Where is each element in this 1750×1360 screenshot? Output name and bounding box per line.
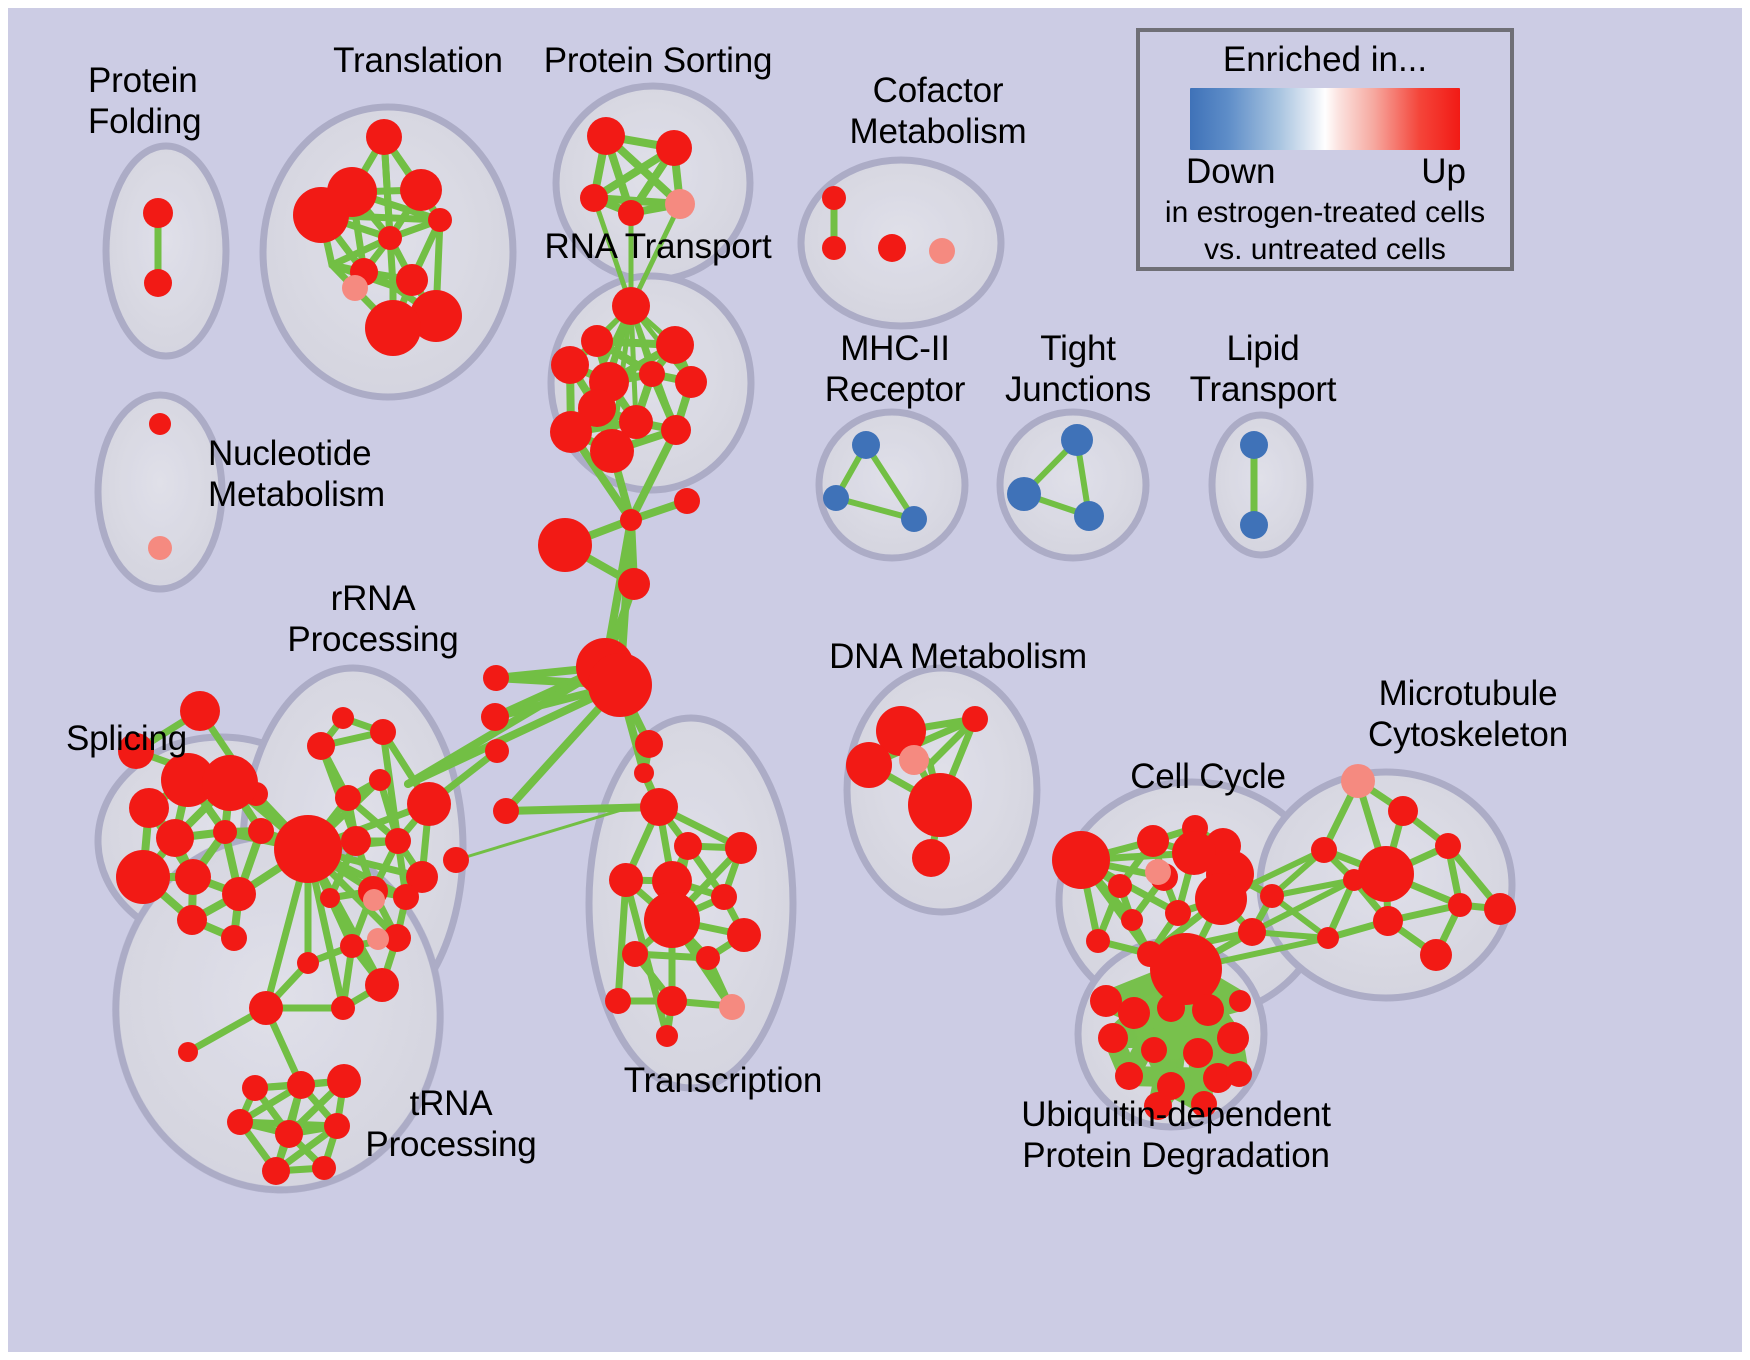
cluster-label-transcription: Transcription	[573, 1060, 873, 1101]
node	[612, 287, 650, 325]
node	[1435, 833, 1461, 859]
node	[385, 828, 411, 854]
node	[222, 877, 256, 911]
node	[370, 719, 396, 745]
node	[1090, 985, 1122, 1017]
node	[1157, 994, 1185, 1022]
node	[674, 488, 700, 514]
node	[587, 117, 625, 155]
node-down	[1240, 431, 1268, 459]
node	[590, 429, 634, 473]
node	[1229, 990, 1251, 1012]
node-down	[823, 485, 849, 511]
node	[485, 739, 509, 763]
node	[1420, 939, 1452, 971]
node	[365, 300, 421, 356]
node	[1165, 900, 1191, 926]
node-down	[1007, 477, 1041, 511]
node	[144, 269, 172, 297]
node	[175, 859, 211, 895]
legend-caption-line2: vs. untreated cells	[1164, 231, 1486, 268]
node-mid	[929, 238, 955, 264]
node-mid	[719, 994, 745, 1020]
node	[297, 952, 319, 974]
node	[129, 788, 169, 828]
cluster-label-trna-processing: tRNAProcessing	[326, 1083, 576, 1165]
node	[249, 991, 283, 1025]
cluster-label-protein-sorting: Protein Sorting	[498, 40, 818, 81]
node	[657, 986, 687, 1016]
node-mid	[665, 189, 695, 219]
node-down	[852, 431, 880, 459]
legend-endpoint-labels: Down Up	[1186, 152, 1466, 192]
node	[287, 1071, 315, 1099]
node	[365, 968, 399, 1002]
node	[293, 187, 349, 243]
node	[1108, 874, 1132, 898]
node	[605, 988, 631, 1014]
node	[242, 1075, 268, 1101]
node	[227, 1109, 253, 1135]
node	[481, 703, 509, 731]
node	[393, 884, 419, 910]
node-down	[1074, 501, 1104, 531]
node	[1388, 796, 1418, 826]
node	[538, 518, 592, 572]
node	[727, 918, 761, 952]
network-plot-area: ProteinFolding Translation Protein Sorti…	[8, 8, 1742, 1352]
node	[618, 568, 650, 600]
node	[1373, 906, 1403, 936]
node	[551, 346, 589, 384]
node	[640, 788, 678, 826]
node	[1086, 929, 1110, 953]
node	[369, 769, 391, 791]
node-mid	[1341, 764, 1375, 798]
node	[656, 326, 694, 364]
node	[822, 236, 846, 260]
node	[443, 847, 469, 873]
node	[1118, 997, 1150, 1029]
node	[248, 818, 274, 844]
node	[149, 413, 171, 435]
node	[178, 1042, 198, 1062]
node	[1448, 893, 1472, 917]
cluster-label-dna-metabolism: DNA Metabolism	[798, 636, 1118, 677]
legend-caption-line1: in estrogen-treated cells	[1164, 194, 1486, 231]
node	[656, 130, 692, 166]
legend-high-label: Up	[1421, 152, 1466, 192]
node	[1195, 873, 1247, 925]
node	[483, 665, 509, 691]
legend-color-gradient	[1190, 88, 1460, 150]
node	[1260, 884, 1284, 908]
node	[143, 198, 173, 228]
node	[1317, 927, 1339, 949]
node	[639, 361, 665, 387]
cluster-label-ubiquitin-degradation: Ubiquitin-dependentProtein Degradation	[966, 1094, 1386, 1176]
node-mid	[363, 889, 385, 911]
node	[340, 934, 364, 958]
node	[1183, 1038, 1213, 1068]
node	[962, 706, 988, 732]
node	[725, 832, 757, 864]
node	[908, 773, 972, 837]
node	[622, 941, 648, 967]
node-down	[1061, 424, 1093, 456]
cluster-label-rna-transport: RNA Transport	[503, 226, 813, 267]
cluster-label-lipid-transport: LipidTransport	[1138, 328, 1388, 410]
node	[696, 946, 720, 970]
cluster-label-protein-folding: ProteinFolding	[88, 60, 318, 142]
node	[1226, 1061, 1252, 1087]
node	[1217, 1022, 1249, 1054]
node	[156, 819, 194, 857]
node	[711, 884, 737, 910]
node	[1121, 909, 1143, 931]
node	[116, 850, 170, 904]
node	[1137, 825, 1169, 857]
node	[341, 826, 371, 856]
node	[581, 325, 613, 357]
node-mid	[899, 745, 929, 775]
node	[588, 653, 652, 717]
node	[1052, 831, 1110, 889]
node	[618, 200, 644, 226]
node	[428, 208, 452, 232]
node-mid	[148, 536, 172, 560]
node	[1098, 1023, 1128, 1053]
cluster-label-nucleotide-metabolism: NucleotideMetabolism	[208, 433, 538, 515]
node	[644, 892, 700, 948]
node	[213, 820, 237, 844]
node	[550, 411, 592, 453]
node	[1141, 1037, 1167, 1063]
node	[493, 798, 519, 824]
node	[656, 1025, 678, 1047]
node	[846, 742, 892, 788]
node	[366, 119, 402, 155]
node	[661, 415, 691, 445]
node	[307, 732, 335, 760]
node-mid	[342, 275, 368, 301]
node	[1192, 994, 1224, 1026]
node	[635, 730, 663, 758]
node	[275, 1120, 303, 1148]
node	[609, 863, 643, 897]
cluster-label-cell-cycle: Cell Cycle	[1088, 756, 1328, 797]
node	[634, 763, 654, 783]
legend-low-label: Down	[1186, 152, 1275, 192]
cluster-label-cofactor-metabolism: CofactorMetabolism	[788, 70, 1088, 152]
node	[221, 925, 247, 951]
node-mid	[1145, 859, 1171, 885]
node	[822, 186, 846, 210]
node	[407, 782, 451, 826]
figure-canvas: ProteinFolding Translation Protein Sorti…	[0, 0, 1750, 1360]
legend-title: Enriched in...	[1164, 40, 1486, 80]
node-mid	[367, 928, 389, 950]
node	[202, 755, 258, 811]
node	[400, 169, 442, 211]
node	[878, 234, 906, 262]
node	[274, 815, 342, 883]
node	[378, 226, 402, 250]
cluster-label-microtubule-cytoskeleton: MicrotubuleCytoskeleton	[1298, 673, 1638, 755]
node-down	[901, 506, 927, 532]
node	[320, 888, 340, 908]
node	[331, 996, 355, 1020]
node	[675, 366, 707, 398]
node	[1484, 893, 1516, 925]
node	[177, 905, 207, 935]
node	[1311, 837, 1337, 863]
node	[1358, 846, 1414, 902]
node	[1150, 933, 1222, 1005]
node	[262, 1157, 290, 1185]
node	[1238, 918, 1266, 946]
hull-protein-folding	[106, 146, 226, 356]
node	[335, 785, 361, 811]
node	[1343, 869, 1365, 891]
node	[912, 839, 950, 877]
cluster-label-rrna-processing: rRNAProcessing	[248, 578, 498, 660]
node	[396, 264, 428, 296]
node	[620, 509, 642, 531]
node-down	[1240, 511, 1268, 539]
cluster-label-splicing: Splicing	[66, 718, 266, 759]
node	[674, 832, 702, 860]
legend-box: Enriched in... Down Up in estrogen-treat…	[1136, 28, 1514, 271]
node	[580, 184, 608, 212]
node	[1115, 1062, 1143, 1090]
node	[332, 707, 354, 729]
